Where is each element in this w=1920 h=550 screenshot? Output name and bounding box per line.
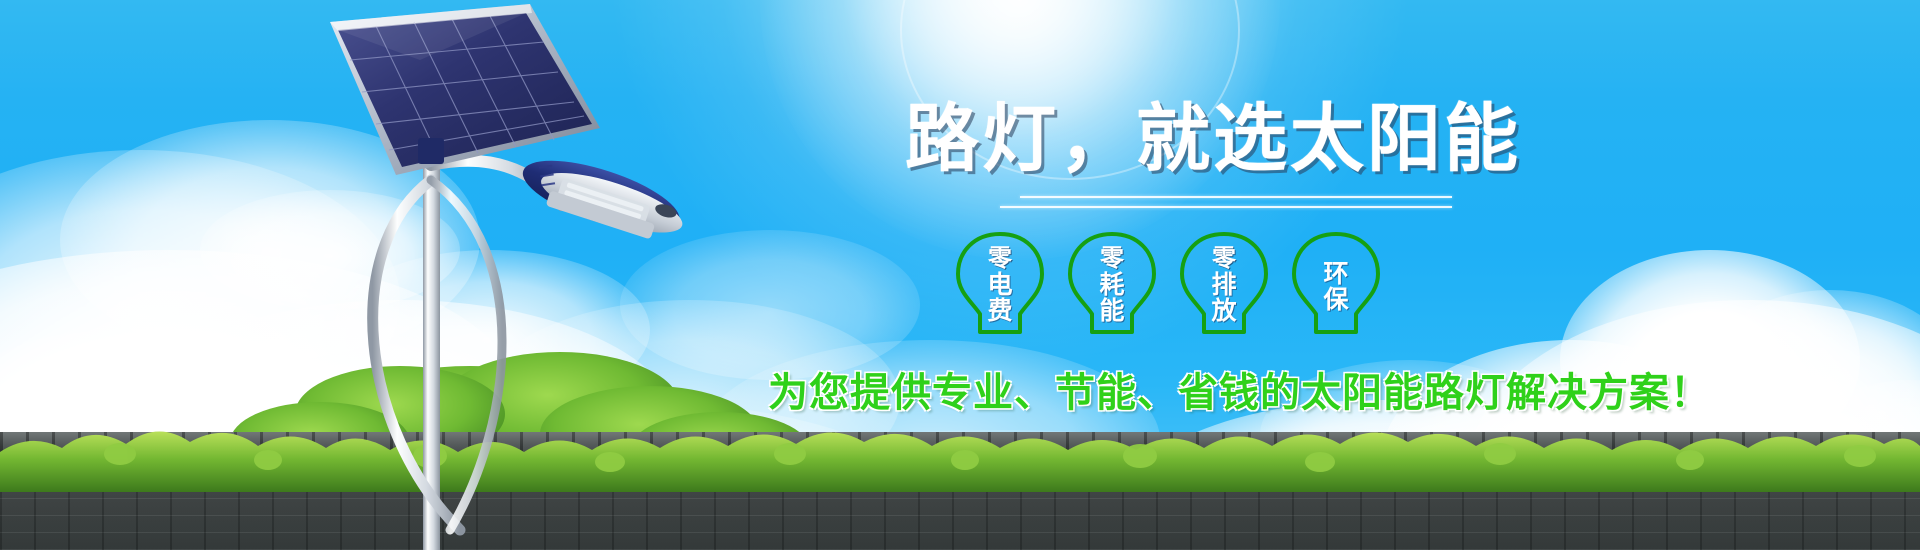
feature-badge-list: 零 电 费 零 耗 能 零 排 放	[952, 228, 1384, 340]
divider-line-bottom	[1000, 206, 1452, 208]
badge-word-2: 保	[1323, 287, 1348, 313]
badge-zero-glyph: 零	[988, 245, 1012, 272]
feature-badge-zero-energy-consumption[interactable]: 零 耗 能	[1064, 228, 1160, 340]
badge-word-1: 电	[987, 272, 1012, 298]
tagline: 为您提供专业、节能、省钱的太阳能路灯解决方案！	[768, 360, 1711, 418]
divider-line-top	[1020, 196, 1452, 198]
badge-word-1: 排	[1211, 272, 1236, 298]
page-title: 路灯，就选太阳能	[905, 96, 1521, 182]
feature-badge-environmental-protection[interactable]: 环 保	[1288, 228, 1384, 340]
badge-word-1: 环	[1323, 261, 1348, 287]
solar-street-lamp-banner: 路灯，就选太阳能 零 电 费 零 耗 能	[0, 0, 1920, 550]
badge-word-1: 耗	[1099, 272, 1124, 298]
badge-zero-glyph: 零	[1212, 245, 1236, 272]
badge-word-2: 放	[1211, 298, 1236, 324]
feature-badge-zero-electricity-cost[interactable]: 零 电 费	[952, 228, 1048, 340]
feature-badge-zero-emission[interactable]: 零 排 放	[1176, 228, 1272, 340]
wall-cap	[0, 432, 1920, 454]
brick-wall	[0, 438, 1920, 550]
badge-word-2: 费	[987, 298, 1012, 324]
badge-word-2: 能	[1099, 298, 1124, 324]
badge-zero-glyph: 零	[1100, 245, 1124, 272]
